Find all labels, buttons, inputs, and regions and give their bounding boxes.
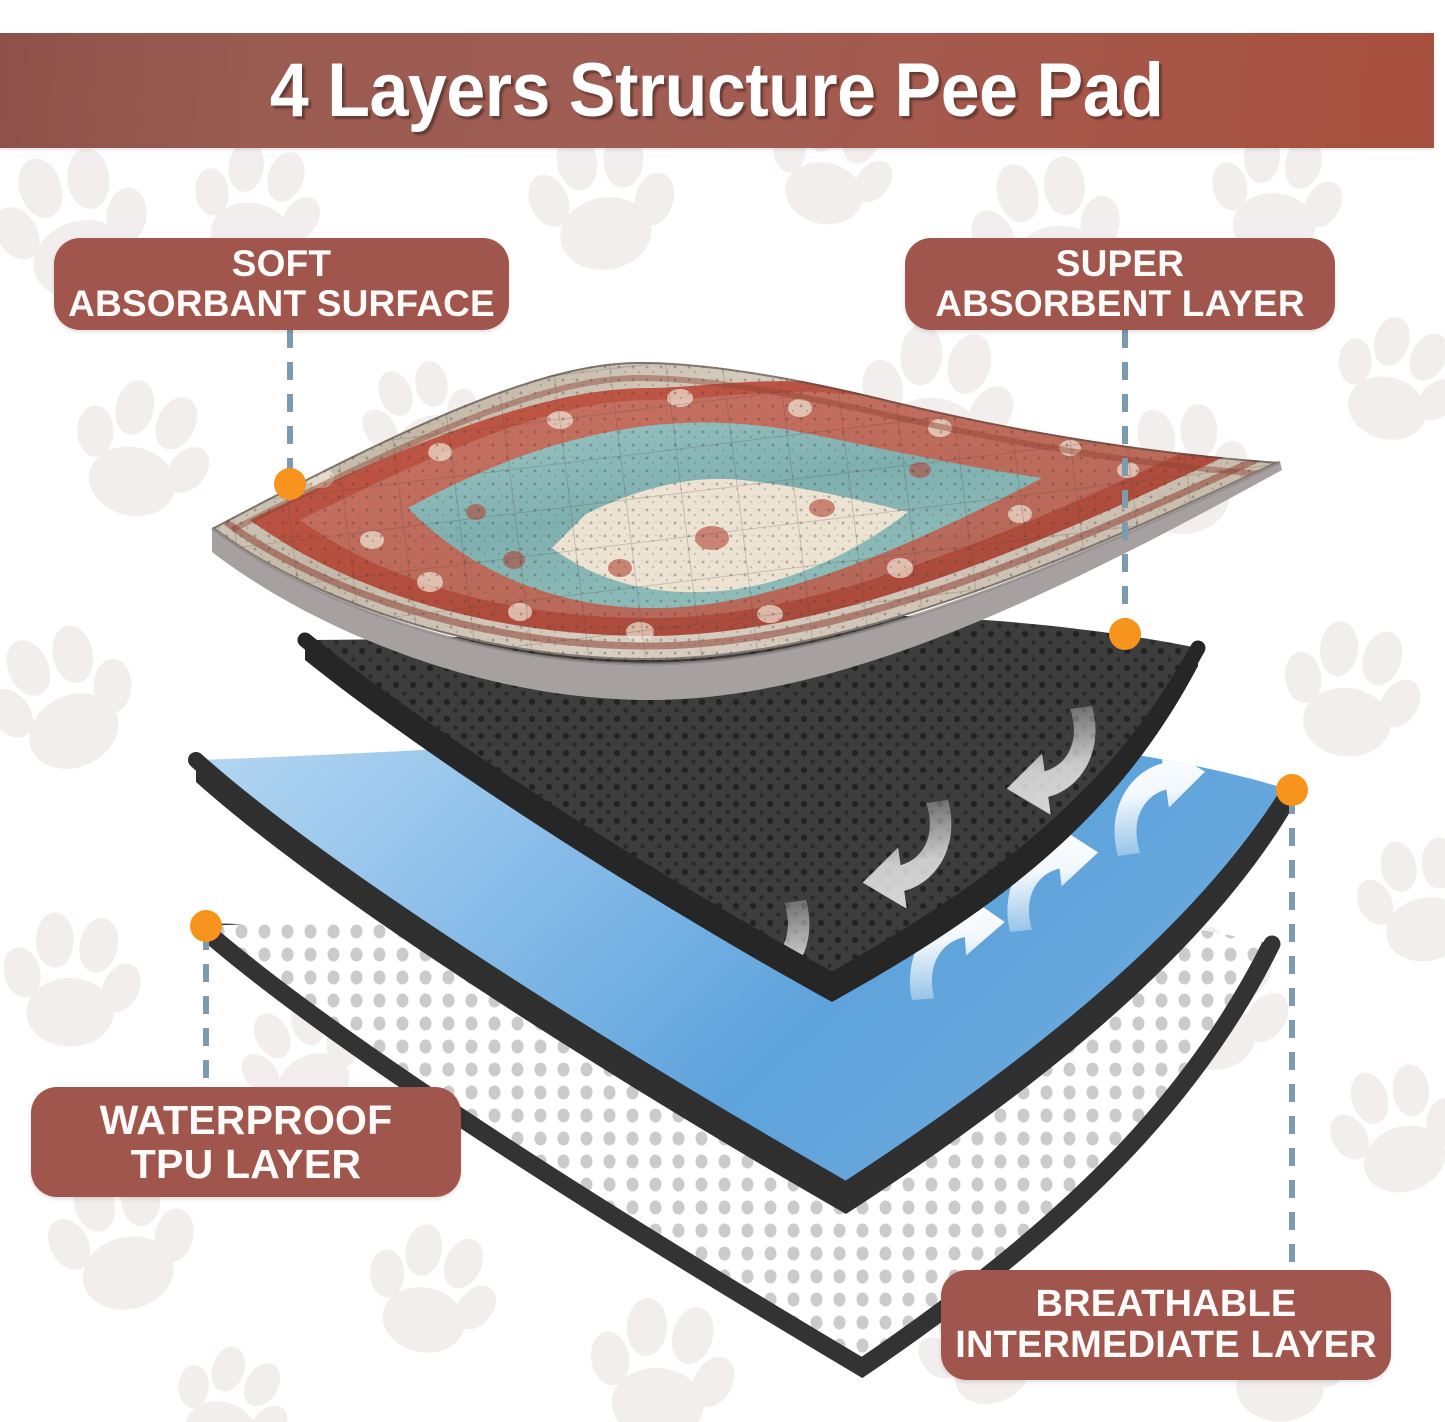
callout-line-2: ABSORBENT LAYER [935,284,1305,324]
callout-line-2: TPU LAYER [131,1142,361,1186]
callout-line-1: WATERPROOF [100,1098,393,1142]
header-banner: 4 Layers Structure Pee Pad [0,33,1434,148]
callout-line-2: ABSORBANT SURFACE [68,284,495,324]
callout-super-absorbent-layer[interactable]: SUPER ABSORBENT LAYER [905,238,1335,330]
callout-waterproof-tpu-layer[interactable]: WATERPROOF TPU LAYER [31,1087,461,1197]
callout-breathable-intermediate-layer[interactable]: BREATHABLE INTERMEDIATE LAYER [941,1270,1391,1380]
callout-line-2: INTERMEDIATE LAYER [955,1325,1377,1366]
callout-line-1: SUPER [1056,244,1184,284]
callout-line-1: SOFT [232,244,331,284]
pee-pad-layer-illustration [0,0,1445,1422]
callout-line-1: BREATHABLE [1036,1284,1297,1325]
callout-soft-absorbant-surface[interactable]: SOFT ABSORBANT SURFACE [54,238,509,330]
page-title: 4 Layers Structure Pee Pad [270,53,1164,129]
infographic-canvas: 4 Layers Structure Pee Pad SOFT ABSORBAN… [0,0,1445,1422]
